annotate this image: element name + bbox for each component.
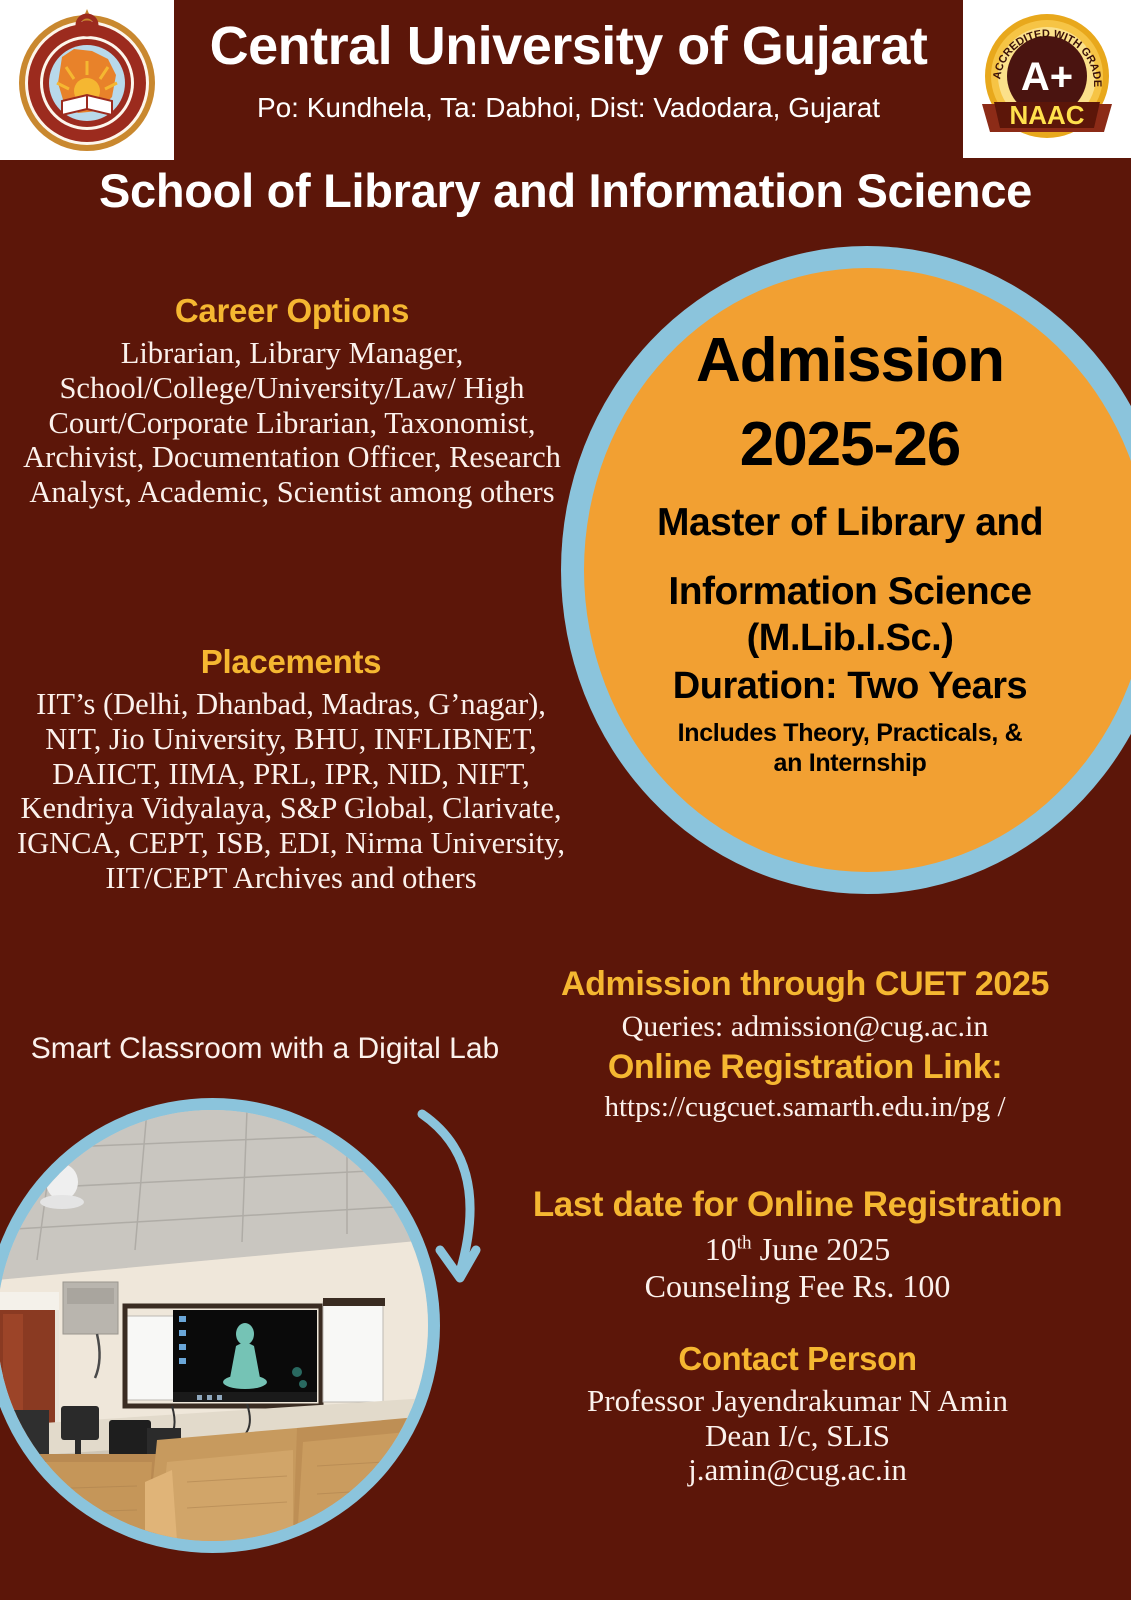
last-date-month-year: June 2025 xyxy=(752,1231,891,1267)
university-crest-icon xyxy=(12,5,162,155)
contact-person-email[interactable]: j.amin@cug.ac.in xyxy=(470,1453,1125,1488)
career-options-section: Career Options Librarian, Library Manage… xyxy=(22,292,562,510)
admission-year: 2025-26 xyxy=(600,414,1100,476)
naac-accreditation-icon: ACCREDITED WITH GRADE A+ NAAC xyxy=(972,6,1122,152)
career-options-list: Librarian, Library Manager, School/Colle… xyxy=(22,336,562,510)
registration-link-url[interactable]: https://cugcuet.samarth.edu.in/pg / xyxy=(490,1091,1120,1124)
university-logo xyxy=(0,0,174,160)
program-includes-line1: Includes Theory, Practicals, & xyxy=(600,718,1100,748)
registration-link-label: Online Registration Link: xyxy=(490,1048,1120,1087)
contact-person-designation: Dean I/c, SLIS xyxy=(470,1419,1125,1454)
university-address: Po: Kundhela, Ta: Dabhoi, Dist: Vadodara… xyxy=(174,92,963,124)
smart-classroom-photo-illustration xyxy=(0,1110,428,1541)
program-abbreviation: (M.Lib.I.Sc.) xyxy=(600,618,1100,660)
university-name: Central University of Gujarat xyxy=(174,18,963,75)
queries-email[interactable]: Queries: admission@cug.ac.in xyxy=(490,1010,1120,1044)
program-name-line1: Master of Library and xyxy=(600,500,1100,545)
last-date-value: 10th June 2025 xyxy=(470,1231,1125,1268)
career-options-heading: Career Options xyxy=(22,292,562,330)
last-date-title: Last date for Online Registration xyxy=(470,1185,1125,1225)
school-name: School of Library and Information Scienc… xyxy=(0,163,1131,218)
program-name-line2: Information Science xyxy=(600,569,1100,614)
contact-person-title: Contact Person xyxy=(470,1340,1125,1378)
admission-circle-content: Admission 2025-26 Master of Library and … xyxy=(600,330,1100,778)
program-includes-line2: an Internship xyxy=(600,748,1100,778)
classroom-caption: Smart Classroom with a Digital Lab xyxy=(0,1032,530,1066)
naac-badge: ACCREDITED WITH GRADE A+ NAAC xyxy=(963,0,1131,158)
placements-heading: Placements xyxy=(10,643,572,681)
cuet-admission-section: Admission through CUET 2025 Queries: adm… xyxy=(490,965,1120,1124)
last-date-ordinal: th xyxy=(737,1232,752,1253)
cuet-title: Admission through CUET 2025 xyxy=(490,965,1120,1004)
svg-text:NAAC: NAAC xyxy=(1009,100,1084,130)
admission-label: Admission xyxy=(600,330,1100,392)
program-duration: Duration: Two Years xyxy=(600,666,1100,708)
counseling-fee: Counseling Fee Rs. 100 xyxy=(470,1268,1125,1305)
classroom-photo xyxy=(0,1110,428,1541)
placements-section: Placements IIT’s (Delhi, Dhanbad, Madras… xyxy=(10,643,572,896)
contact-person-name: Professor Jayendrakumar N Amin xyxy=(470,1384,1125,1419)
svg-text:A+: A+ xyxy=(1021,55,1073,99)
last-date-day: 10 xyxy=(705,1231,737,1267)
contact-person-details: Professor Jayendrakumar N Amin Dean I/c,… xyxy=(470,1384,1125,1488)
contact-person-section: Contact Person Professor Jayendrakumar N… xyxy=(470,1340,1125,1488)
last-date-section: Last date for Online Registration 10th J… xyxy=(470,1185,1125,1305)
placements-list: IIT’s (Delhi, Dhanbad, Madras, G’nagar),… xyxy=(10,687,572,896)
admission-poster: Central University of Gujarat Po: Kundhe… xyxy=(0,0,1131,1600)
poster-header: Central University of Gujarat Po: Kundhe… xyxy=(0,0,1131,160)
